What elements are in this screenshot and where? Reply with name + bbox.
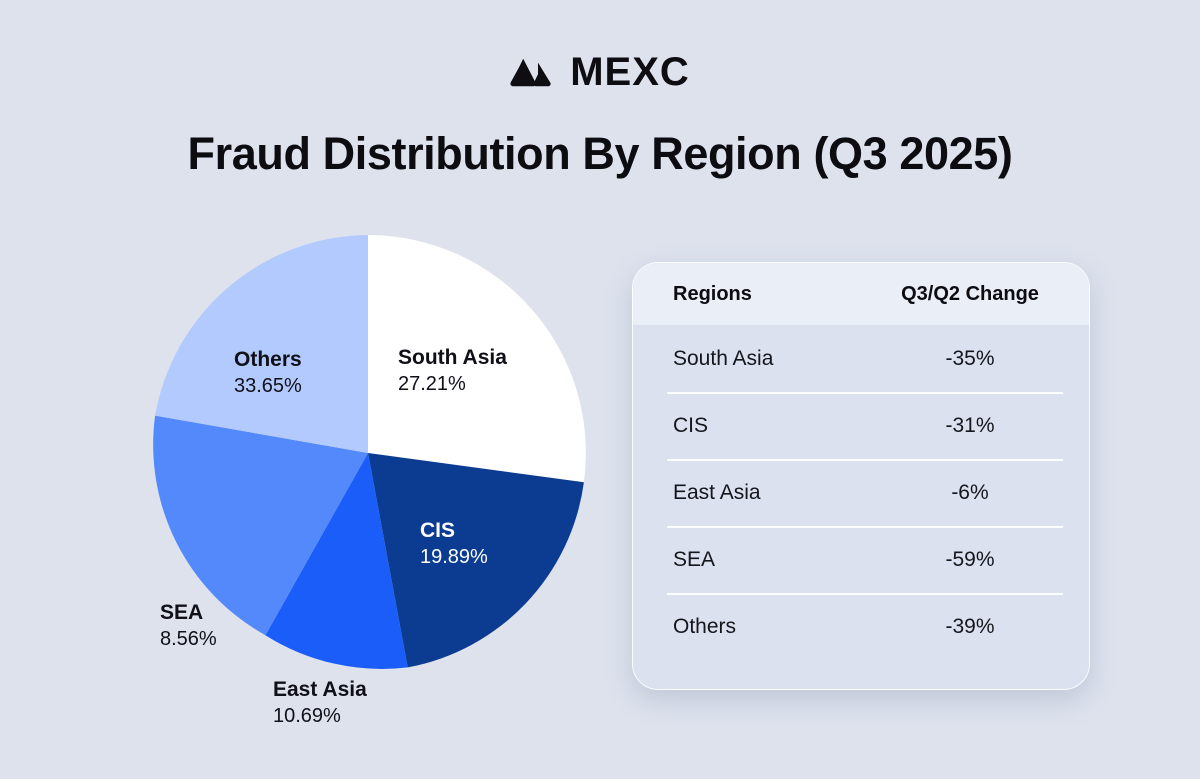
pie-label-cis-value: 19.89% <box>420 545 488 571</box>
pie-label-others-value: 33.65% <box>234 374 302 400</box>
pie-label-south-asia-value: 27.21% <box>398 372 507 398</box>
regions-change-table: Regions Q3/Q2 Change South Asia -35% CIS… <box>632 262 1090 690</box>
cell-change: -59% <box>891 548 1049 572</box>
pie-label-east-asia-name: East Asia <box>273 678 367 701</box>
cell-change: -31% <box>891 414 1049 438</box>
table-header-row: Regions Q3/Q2 Change <box>633 263 1089 325</box>
cell-region: East Asia <box>673 481 891 505</box>
cell-region: CIS <box>673 414 891 438</box>
table-body: South Asia -35% CIS -31% East Asia -6% S… <box>633 325 1089 660</box>
table-row: South Asia -35% <box>633 325 1089 392</box>
pie-label-sea-value: 8.56% <box>160 627 217 653</box>
table-row: SEA -59% <box>633 526 1089 593</box>
cell-change: -6% <box>891 481 1049 505</box>
cell-region: SEA <box>673 548 891 572</box>
cell-region: South Asia <box>673 347 891 371</box>
table-header-regions: Regions <box>673 283 891 306</box>
brand-header: MEXC <box>0 52 1200 92</box>
pie-label-sea-name: SEA <box>160 601 203 624</box>
pie-label-east-asia: East Asia 10.69% <box>273 677 367 729</box>
table-row: Others -39% <box>633 593 1089 660</box>
mexc-mountain-logo-icon <box>510 56 556 88</box>
pie-slice-others[interactable] <box>155 235 368 453</box>
pie-label-others-name: Others <box>234 348 302 371</box>
pie-label-sea: SEA 8.56% <box>160 600 217 652</box>
pie-label-south-asia: South Asia 27.21% <box>398 345 507 397</box>
pie-label-east-asia-value: 10.69% <box>273 704 367 730</box>
pie-label-cis: CIS 19.89% <box>420 518 488 570</box>
pie-label-cis-name: CIS <box>420 519 455 542</box>
page-title: Fraud Distribution By Region (Q3 2025) <box>0 128 1200 180</box>
pie-label-others: Others 33.65% <box>234 347 302 399</box>
table-row: CIS -31% <box>633 392 1089 459</box>
infographic-page: MEXC Fraud Distribution By Region (Q3 20… <box>0 0 1200 779</box>
table-header-change: Q3/Q2 Change <box>891 283 1049 306</box>
cell-change: -39% <box>891 615 1049 639</box>
cell-change: -35% <box>891 347 1049 371</box>
cell-region: Others <box>673 615 891 639</box>
pie-label-south-asia-name: South Asia <box>398 346 507 369</box>
brand-wordmark: MEXC <box>570 52 690 92</box>
table-row: East Asia -6% <box>633 459 1089 526</box>
